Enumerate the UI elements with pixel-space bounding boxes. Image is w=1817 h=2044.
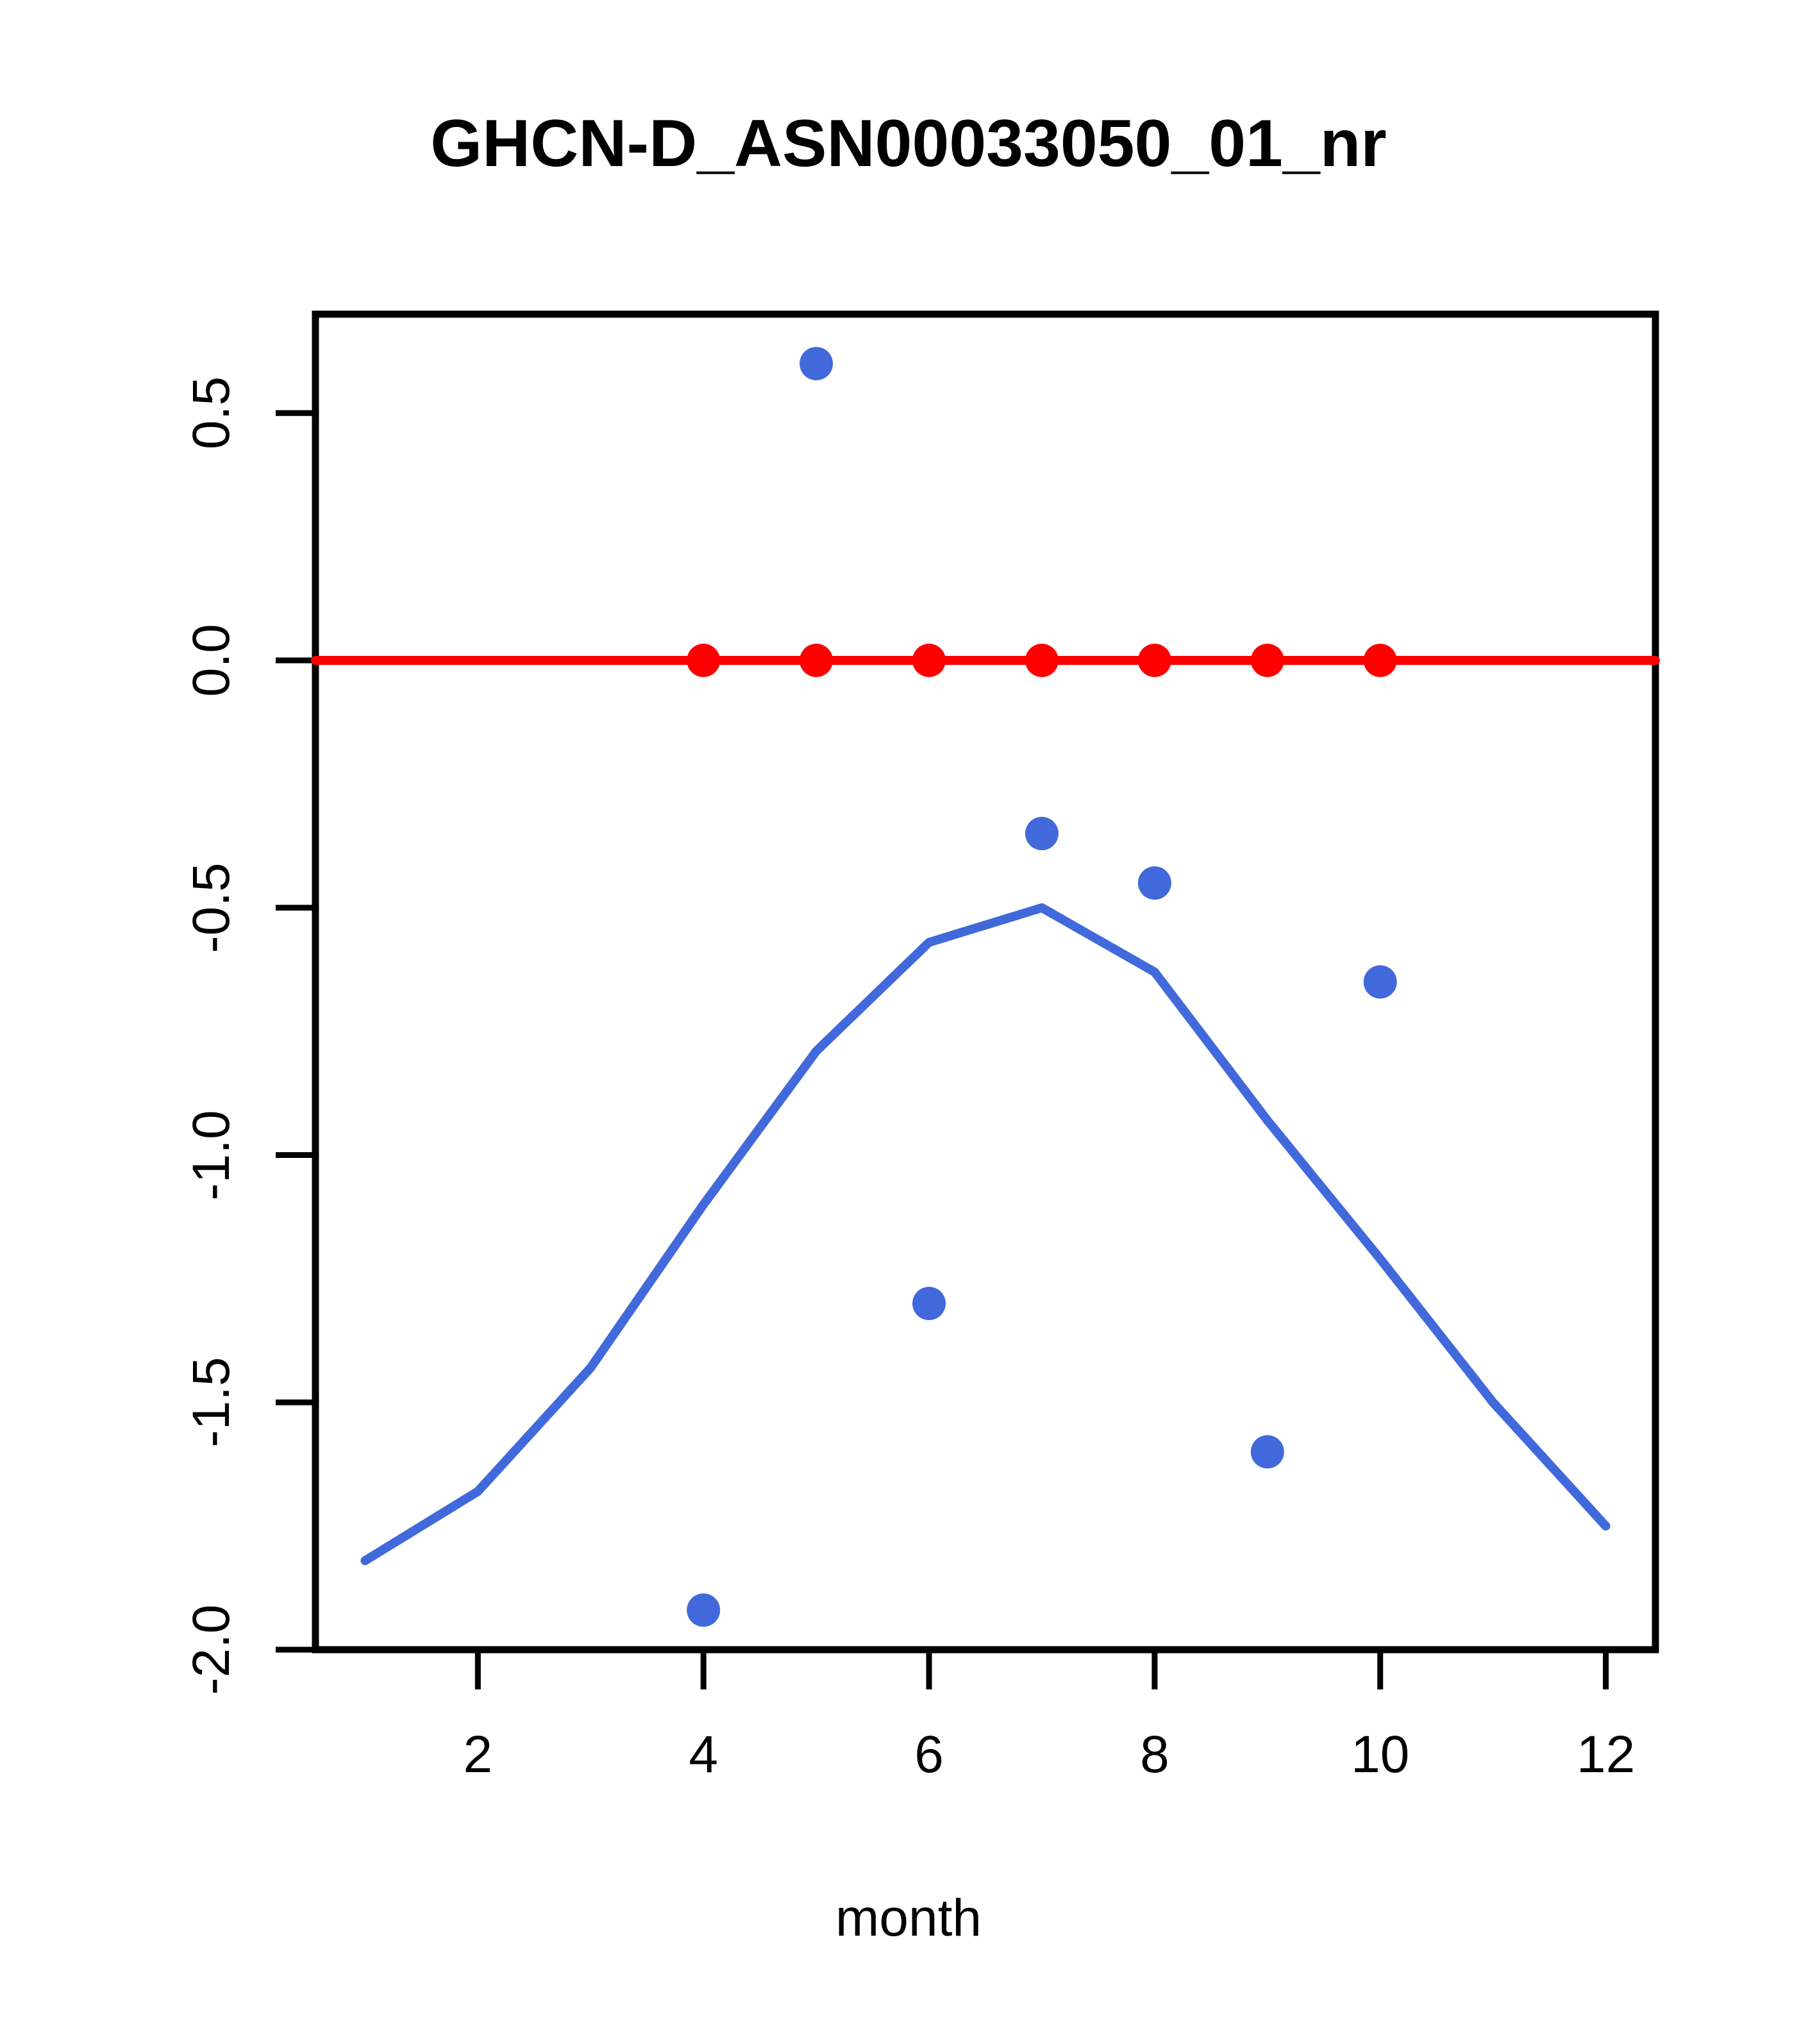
y-tick-label: -0.5	[181, 862, 242, 953]
blue-points-marker	[1364, 966, 1397, 999]
y-tick-label: -1.0	[181, 1110, 242, 1200]
red-points-marker	[687, 644, 720, 677]
x-tick-label: 6	[914, 1725, 944, 1785]
red-points-marker	[1025, 644, 1059, 677]
chart-canvas: GHCN-D_ASN00033050_01_nr 24681012 0.50.0…	[0, 0, 1817, 2044]
blue-trend-line	[365, 908, 1605, 1561]
red-points-marker	[1251, 644, 1284, 677]
blue-points-marker	[1025, 817, 1059, 850]
red-points-marker	[1138, 644, 1171, 677]
red-points-marker	[1364, 644, 1397, 677]
blue-points-marker	[687, 1593, 720, 1627]
x-tick-label: 8	[1140, 1725, 1169, 1785]
blue-points-marker	[1138, 866, 1171, 900]
x-tick-label: 4	[689, 1725, 718, 1785]
red-points-marker	[800, 644, 833, 677]
y-tick-label: 0.0	[181, 624, 242, 697]
y-tick-label: 0.5	[181, 376, 242, 449]
blue-points-marker	[800, 347, 833, 380]
x-axis-title: month	[0, 1888, 1817, 1948]
y-tick-label: -1.5	[181, 1357, 242, 1448]
x-tick-label: 2	[464, 1725, 493, 1785]
y-tick-label: -2.0	[181, 1604, 242, 1695]
blue-points-marker	[912, 1287, 946, 1320]
x-tick-label: 10	[1351, 1725, 1409, 1785]
blue-points-marker	[1251, 1435, 1284, 1468]
x-tick-label: 12	[1577, 1725, 1635, 1785]
plot-area	[0, 0, 1817, 2044]
red-points-marker	[912, 644, 946, 677]
